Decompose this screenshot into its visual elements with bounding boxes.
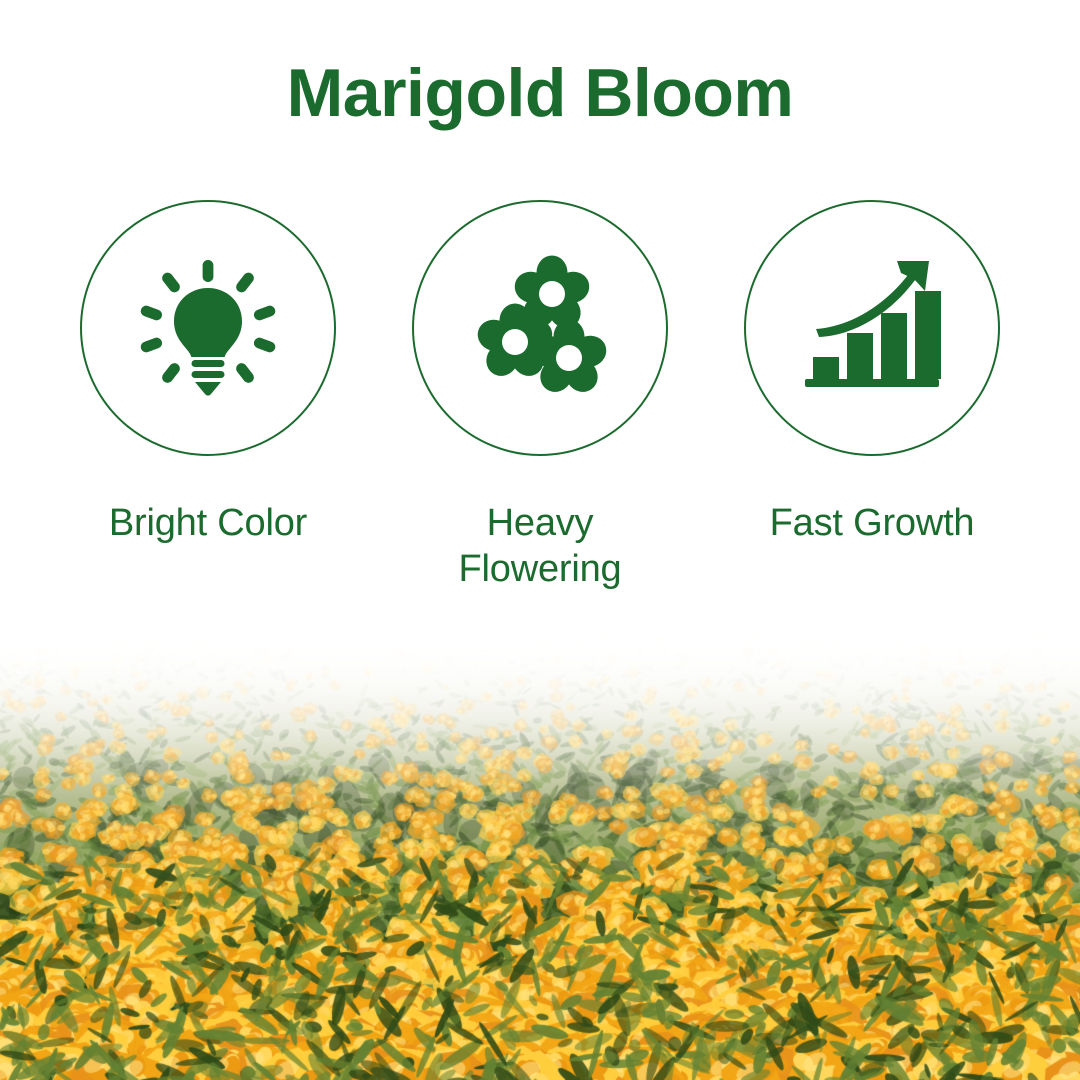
lightbulb-icon [138, 258, 278, 398]
feature-icon-circle [80, 200, 336, 456]
flowers-icon [467, 255, 613, 401]
feature-label: Fast Growth [770, 500, 975, 546]
feature-fast-growth[interactable]: Fast Growth [744, 200, 1000, 546]
field-image [0, 590, 1080, 1080]
feature-bright-color[interactable]: Bright Color [80, 200, 336, 546]
feature-label: Heavy Flowering [415, 500, 665, 593]
feature-list: Bright Color [0, 200, 1080, 593]
feature-icon-circle [744, 200, 1000, 456]
feature-icon-circle [412, 200, 668, 456]
page-title: Marigold Bloom [0, 58, 1080, 129]
poster: Marigold Bloom [0, 0, 1080, 1080]
feature-label: Bright Color [109, 500, 307, 546]
growth-chart-icon [801, 257, 943, 399]
feature-heavy-flowering[interactable]: Heavy Flowering [412, 200, 668, 593]
marigold-field-photo [0, 590, 1080, 1080]
